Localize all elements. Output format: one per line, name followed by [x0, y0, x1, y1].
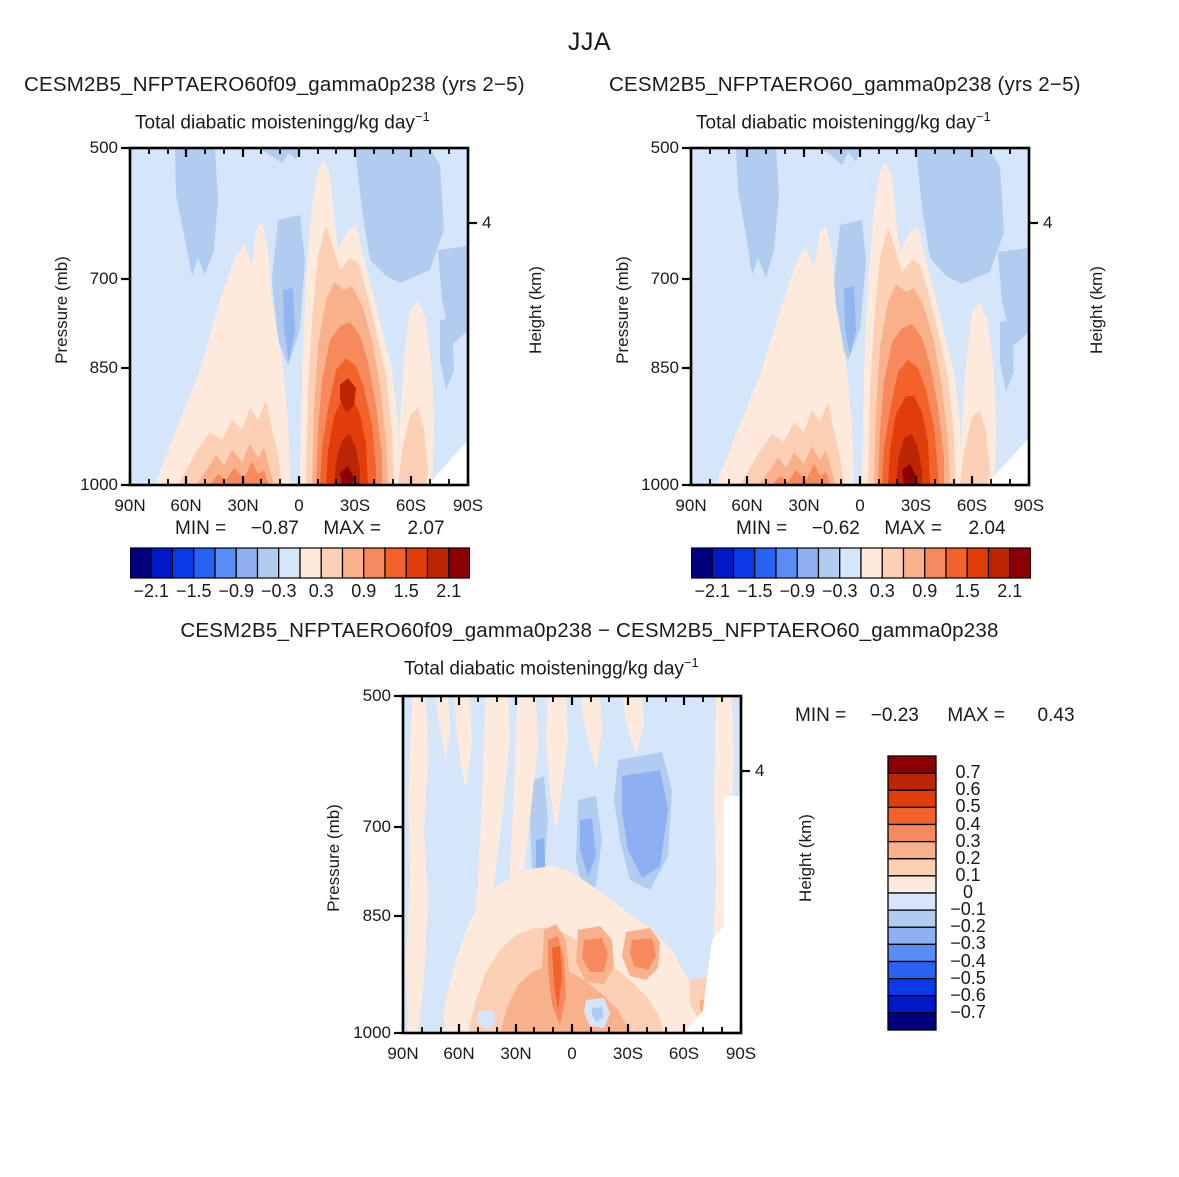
colorbar-cell: [888, 944, 936, 961]
colorbar-cell: [888, 1013, 936, 1030]
max-label: MAX =: [947, 705, 1005, 726]
panel-diff-xtick-30N: 30N: [486, 1044, 546, 1064]
panel-diff-xtick-30S: 30S: [598, 1044, 658, 1064]
panel-diff-xtick-0: 0: [542, 1044, 602, 1064]
colorbar-cell: [888, 927, 936, 944]
colorbar-cell: [888, 962, 936, 979]
colorbar-cell: [888, 979, 936, 996]
panel-diff-ytick-500: 500: [333, 686, 391, 706]
colorbar-cell: [888, 893, 936, 910]
min-value: −0.23: [871, 705, 919, 726]
panel-diff-ytick-850: 850: [333, 906, 391, 926]
panel-diff-xtick-90N: 90N: [373, 1044, 433, 1064]
colorbar-cell: [888, 876, 936, 893]
colorbar-cell: [888, 773, 936, 790]
colorbar-cell: [888, 790, 936, 807]
colorbar-cell: [888, 842, 936, 859]
colorbar-cell: [888, 859, 936, 876]
panel-diff-ytick-1000: 1000: [333, 1023, 391, 1043]
min-label: MIN =: [795, 705, 846, 726]
max-value: 0.43: [1038, 705, 1075, 726]
panel-diff-contours: [403, 696, 741, 1033]
panel-diff-xtick-60N: 60N: [429, 1044, 489, 1064]
panel-diff-colorbar-labels: 0.70.60.50.40.30.20.10−0.1−0.2−0.3−0.4−0…: [940, 750, 1030, 1042]
panel-diff-xtick-90S: 90S: [711, 1044, 771, 1064]
panel-diff-xtick-60S: 60S: [654, 1044, 714, 1064]
colorbar-cell: [888, 825, 936, 842]
colorbar-cell: [888, 910, 936, 927]
colorbar-tick-label: −0.7: [940, 1002, 996, 1023]
panel-diff-ytick-700: 700: [333, 817, 391, 837]
panel-diff-minmax: MIN = −0.23 MAX = 0.43: [795, 705, 1075, 727]
panel-diff-height-tick: 4: [755, 761, 764, 781]
colorbar-cell: [888, 996, 936, 1013]
colorbar-cell: [888, 756, 936, 773]
colorbar-cell: [888, 807, 936, 824]
